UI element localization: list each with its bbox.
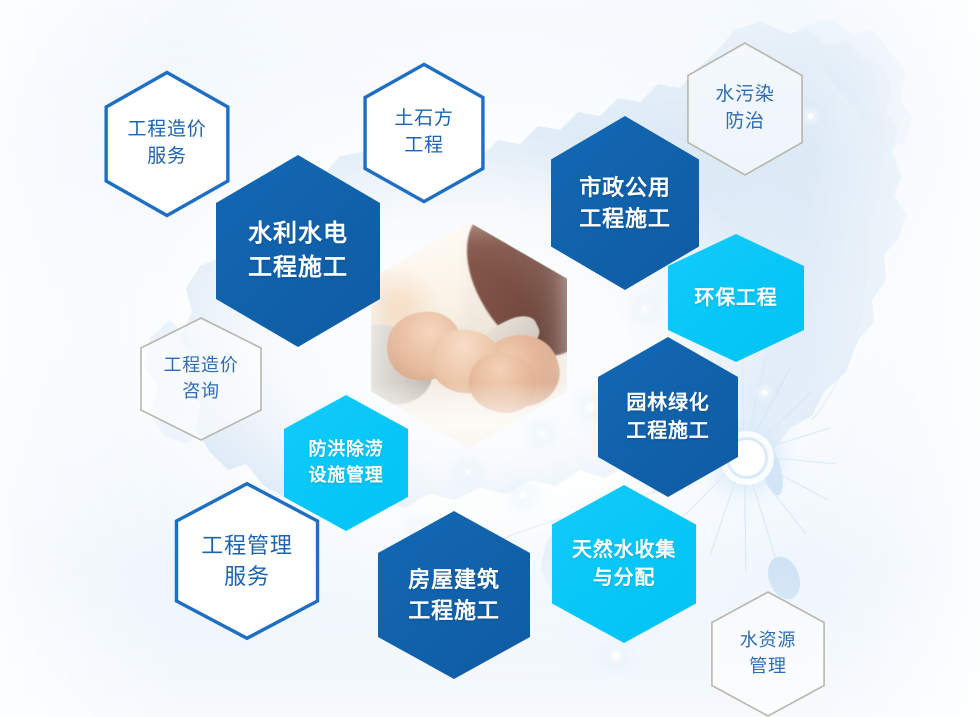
hexagon-shape-icon: [552, 485, 696, 643]
hexagon-water-resources-management[interactable]: 水资源 管理: [711, 591, 825, 717]
hexagon-building-construction-engineering[interactable]: 房屋建筑 工程施工: [378, 511, 530, 679]
hexagon-shape-icon: [104, 70, 230, 218]
map-northeast: [800, 18, 912, 150]
hexagon-shape-icon: [687, 42, 803, 176]
hexagon-shape-icon: [711, 591, 825, 717]
glow-dot: [642, 306, 647, 311]
glow-dot: [808, 114, 813, 119]
glow-dot: [588, 404, 594, 410]
hexagon-earthwork-engineering[interactable]: 土石方 工程: [363, 62, 485, 204]
hexagon-shape-icon: [598, 337, 738, 497]
hexagon-shape-icon: [378, 511, 530, 679]
glow-dot: [762, 390, 767, 395]
map-taiwan-island: [757, 443, 787, 498]
infographic-stage: 工程造价 服务土石方 工程水污染 防治市政公用 工程施工水利水电 工程施工环保工…: [0, 0, 980, 717]
glow-dot: [520, 492, 526, 498]
hexagon-engineering-cost-service[interactable]: 工程造价 服务: [104, 70, 230, 218]
hexagon-shape-icon: [140, 317, 262, 441]
hexagon-shape-icon: [363, 62, 485, 204]
hexagon-engineering-cost-consulting[interactable]: 工程造价 咨询: [140, 317, 262, 441]
glow-dot: [466, 470, 470, 474]
hexagon-shape-icon: [174, 481, 320, 641]
hexagon-water-pollution-control[interactable]: 水污染 防治: [687, 42, 803, 176]
hexagon-engineering-management-service[interactable]: 工程管理 服务: [174, 481, 320, 641]
hexagon-natural-water-collection-distribution[interactable]: 天然水收集 与分配: [552, 485, 696, 643]
glow-dot: [540, 432, 544, 436]
hexagon-landscaping-engineering[interactable]: 园林绿化 工程施工: [598, 337, 738, 497]
glow-dot: [612, 652, 619, 659]
